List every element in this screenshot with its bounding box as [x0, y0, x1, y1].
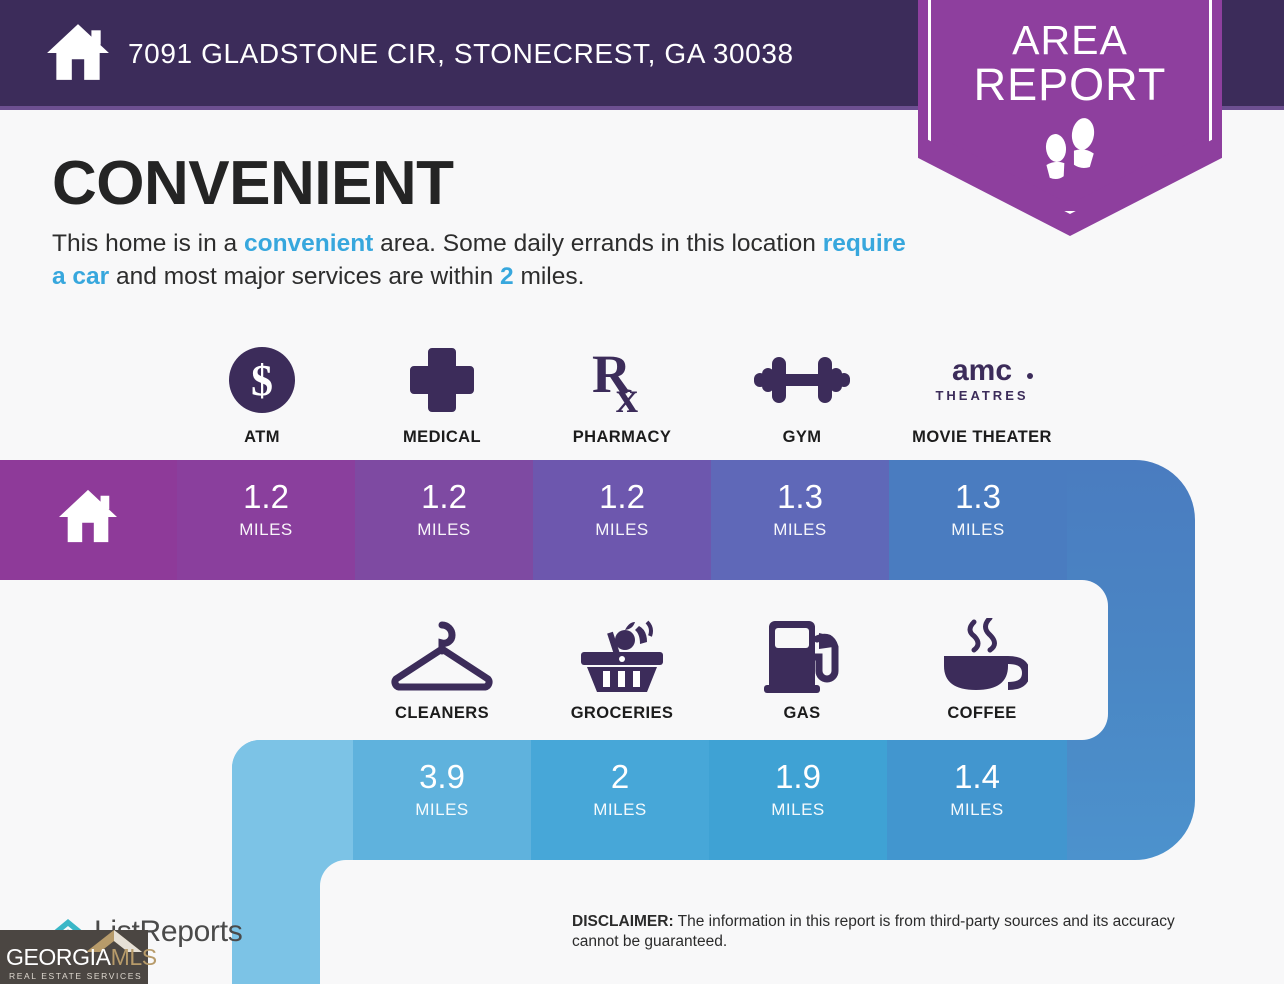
distance-value: 1.4 [887, 760, 1067, 793]
mls-name-part-b: MLS [111, 944, 157, 970]
badge-line-2: REPORT [918, 62, 1222, 108]
dollar-circle-icon: $ [173, 342, 351, 418]
page-title: CONVENIENT [52, 148, 453, 219]
svg-text:x: x [616, 373, 638, 416]
distance-unit: MILES [353, 800, 531, 820]
summary-part-3: and most major services are within [109, 263, 500, 290]
disclaimer-label: DISCLAIMER: [572, 913, 674, 930]
category-label: MOVIE THEATER [893, 428, 1071, 447]
summary-highlight-1: convenient [244, 230, 373, 257]
badge-title: AREA REPORT [918, 20, 1222, 108]
summary-part-2: area. Some daily errands in this locatio… [373, 230, 822, 257]
distance-ribbon: 1.2 MILES 1.2 MILES 1.2 MILES 1.3 MILES … [0, 460, 1284, 984]
distance-unit: MILES [709, 800, 887, 820]
property-address: 7091 GLADSTONE CIR, STONECREST, GA 30038 [128, 38, 794, 70]
row2-cell-coffee: 1.4 MILES [887, 740, 1067, 860]
distance-unit: MILES [889, 520, 1067, 540]
disclaimer: DISCLAIMER: The information in this repo… [572, 912, 1212, 953]
row1-home-cell [0, 460, 177, 580]
distance-unit: MILES [533, 520, 711, 540]
row1-cell-movie-theater: 1.3 MILES [889, 460, 1067, 580]
distance-value: 1.3 [711, 480, 889, 513]
category-gym: GYM [713, 342, 891, 447]
amc-theatres-icon: amc THEATRES [893, 342, 1071, 418]
summary-part-1: This home is in a [52, 230, 244, 257]
mls-name: GEORGIAMLS [6, 944, 157, 971]
category-label: MEDICAL [353, 428, 531, 447]
category-pharmacy: R x PHARMACY [533, 342, 711, 447]
distance-unit: MILES [887, 800, 1067, 820]
distance-unit: MILES [711, 520, 889, 540]
svg-text:$: $ [251, 356, 273, 405]
summary-part-4: miles. [514, 263, 585, 290]
distance-unit: MILES [177, 520, 355, 540]
dumbbell-icon [713, 342, 891, 418]
category-movie-theater: amc THEATRES MOVIE THEATER [893, 342, 1071, 447]
home-icon [45, 22, 111, 84]
mls-tagline: REAL ESTATE SERVICES [9, 971, 142, 981]
area-report-badge: AREA REPORT [918, 0, 1222, 236]
distance-value: 3.9 [353, 760, 531, 793]
row1-cell-medical: 1.2 MILES [355, 460, 533, 580]
medical-cross-icon [353, 342, 531, 418]
home-icon [57, 488, 119, 546]
distance-value: 1.9 [709, 760, 887, 793]
row1-cell-pharmacy: 1.2 MILES [533, 460, 711, 580]
svg-text:amc: amc [952, 354, 1012, 387]
row2-cell-groceries: 2 MILES [531, 740, 709, 860]
svg-text:THEATRES: THEATRES [935, 388, 1028, 403]
distance-value: 1.2 [177, 480, 355, 513]
category-label: GYM [713, 428, 891, 447]
distance-value: 2 [531, 760, 709, 793]
badge-line-1: AREA [1012, 17, 1128, 63]
summary-highlight-3: 2 [500, 263, 514, 290]
distance-unit: MILES [531, 800, 709, 820]
row2-cell-gas: 1.9 MILES [709, 740, 887, 860]
distance-value: 1.2 [355, 480, 533, 513]
category-label: ATM [173, 428, 351, 447]
row2-lead-cell [232, 740, 353, 860]
mls-name-part-a: GEORGIA [6, 944, 111, 970]
footprints-icon [1036, 116, 1106, 184]
distance-value: 1.3 [889, 480, 1067, 513]
ribbon-right-turn-cutout [1062, 580, 1108, 740]
category-atm: $ ATM [173, 342, 351, 447]
distance-value: 1.2 [533, 480, 711, 513]
rx-icon: R x [533, 342, 711, 418]
ribbon-left-tail-cutout [320, 860, 360, 984]
category-medical: MEDICAL [353, 342, 531, 447]
row2-cell-cleaners: 3.9 MILES [353, 740, 531, 860]
distance-unit: MILES [355, 520, 533, 540]
georgia-mls-logo: GEORGIAMLS REAL ESTATE SERVICES [0, 930, 148, 984]
row1-cell-atm: 1.2 MILES [177, 460, 355, 580]
row1-cell-gym: 1.3 MILES [711, 460, 889, 580]
category-label: PHARMACY [533, 428, 711, 447]
summary-text: This home is in a convenient area. Some … [52, 228, 912, 293]
